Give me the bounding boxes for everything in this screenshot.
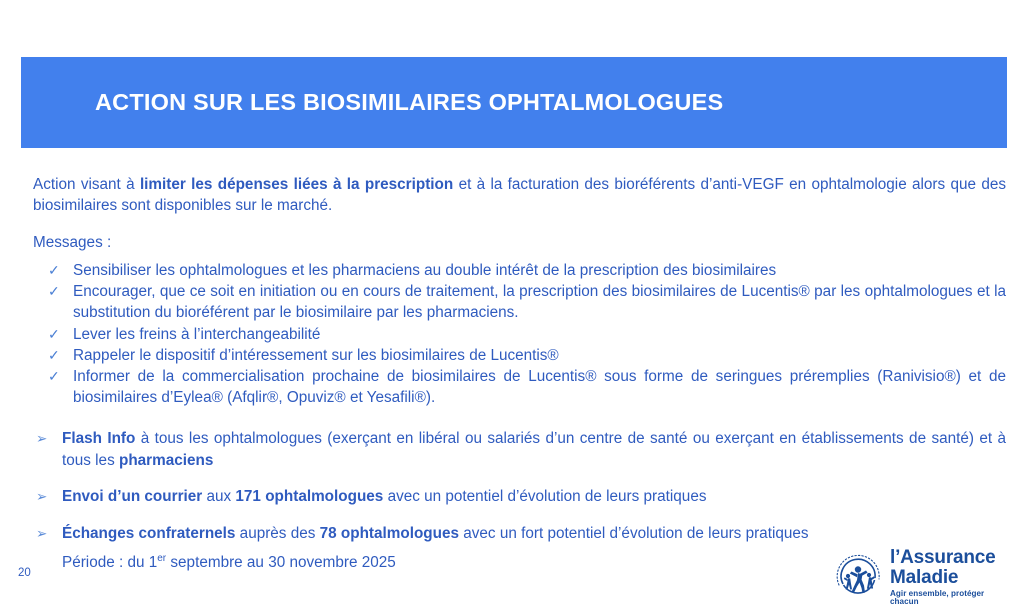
assurance-maladie-emblem-icon bbox=[833, 551, 885, 603]
arrow-bullet-list: ➢Flash Info à tous les ophtalmologues (e… bbox=[33, 428, 1006, 544]
list-item-bold-emphasis: 78 ophtalmologues bbox=[320, 525, 459, 542]
arrow-right-icon: ➢ bbox=[36, 486, 47, 508]
intro-part-1: Action visant à bbox=[33, 176, 140, 193]
intro-part-bold: limiter les dépenses liées à la prescrip… bbox=[140, 176, 453, 193]
check-icon: ✓ bbox=[48, 281, 60, 302]
slide-body: Action visant à limiter les dépenses lié… bbox=[0, 148, 1024, 609]
period-suffix: septembre au 30 novembre 2025 bbox=[166, 554, 396, 571]
list-item: ✓ Lever les freins à l’interchangeabilit… bbox=[48, 324, 1006, 345]
list-item-text-tail: avec un potentiel d’évolution de leurs p… bbox=[383, 488, 706, 505]
list-item-bold-emphasis: 171 ophtalmologues bbox=[235, 488, 383, 505]
check-icon: ✓ bbox=[48, 324, 60, 345]
list-item: ✓ Informer de la commercialisation proch… bbox=[48, 366, 1006, 408]
list-item: ➢Flash Info à tous les ophtalmologues (e… bbox=[33, 428, 1006, 471]
check-icon: ✓ bbox=[48, 345, 60, 366]
logo-wordmark: l’Assurance Maladie Agir ensemble, proté… bbox=[890, 548, 1011, 606]
list-item-bold-lead: Flash Info bbox=[62, 430, 135, 447]
list-item: ➢Échanges confraternels auprès des 78 op… bbox=[33, 523, 1006, 545]
logo-line-2: Maladie bbox=[890, 568, 1011, 587]
period-ordinal-suffix: er bbox=[157, 553, 166, 564]
list-item-text: Informer de la commercialisation prochai… bbox=[73, 368, 1006, 406]
slide-title-banner: ACTION SUR LES BIOSIMILAIRES OPHTALMOLOG… bbox=[21, 57, 1007, 148]
list-item-text: aux bbox=[202, 488, 235, 505]
arrow-right-icon: ➢ bbox=[36, 523, 47, 545]
list-item-text: Encourager, que ce soit en initiation ou… bbox=[73, 283, 1006, 321]
list-item-bold-lead: Échanges confraternels bbox=[62, 525, 235, 542]
messages-label: Messages : bbox=[33, 232, 111, 253]
intro-paragraph: Action visant à limiter les dépenses lié… bbox=[33, 174, 1006, 216]
check-icon: ✓ bbox=[48, 260, 60, 281]
logo-line-1: l’Assurance bbox=[890, 548, 1011, 567]
list-item: ✓ Encourager, que ce soit en initiation … bbox=[48, 281, 1006, 323]
period-line: Période : du 1er septembre au 30 novembr… bbox=[62, 552, 396, 573]
list-item: ✓ Rappeler le dispositif d’intéressement… bbox=[48, 345, 1006, 366]
period-prefix: Période : du 1 bbox=[62, 554, 157, 571]
slide-root: ACTION SUR LES BIOSIMILAIRES OPHTALMOLOG… bbox=[0, 0, 1024, 609]
list-item-bold-emphasis: pharmaciens bbox=[119, 452, 213, 469]
list-item-text: Rappeler le dispositif d’intéressement s… bbox=[73, 347, 559, 364]
logo-tagline: Agir ensemble, protéger chacun bbox=[890, 590, 1011, 606]
list-item: ✓ Sensibiliser les ophtalmologues et les… bbox=[48, 260, 1006, 281]
list-item: ➢Envoi d’un courrier aux 171 ophtalmolog… bbox=[33, 486, 1006, 508]
arrow-right-icon: ➢ bbox=[36, 428, 47, 450]
list-item-text: Sensibiliser les ophtalmologues et les p… bbox=[73, 262, 776, 279]
assurance-maladie-logo: l’Assurance Maladie Agir ensemble, proté… bbox=[833, 549, 1011, 605]
list-item-text-tail: avec un fort potentiel d’évolution de le… bbox=[459, 525, 809, 542]
page-number: 20 bbox=[18, 567, 31, 579]
list-item-text: auprès des bbox=[235, 525, 319, 542]
page-title: ACTION SUR LES BIOSIMILAIRES OPHTALMOLOG… bbox=[95, 90, 723, 116]
check-bullet-list: ✓ Sensibiliser les ophtalmologues et les… bbox=[48, 260, 1006, 408]
check-icon: ✓ bbox=[48, 366, 60, 387]
list-item-text: Lever les freins à l’interchangeabilité bbox=[73, 326, 320, 343]
list-item-bold-lead: Envoi d’un courrier bbox=[62, 488, 202, 505]
